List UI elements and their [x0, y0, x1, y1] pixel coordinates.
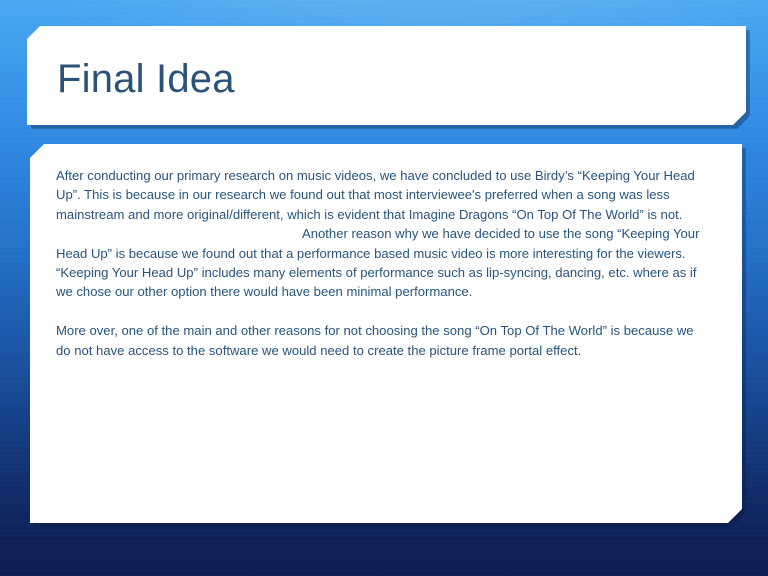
paragraph-spacer [56, 302, 706, 321]
body-paragraph-2: More over, one of the main and other rea… [56, 321, 706, 360]
body-paragraph-1-part-1: After conducting our primary research on… [56, 168, 695, 222]
body-paragraph-1: After conducting our primary research on… [56, 166, 706, 302]
body-paragraph-1-part-2: Another reason why we have decided to us… [56, 226, 699, 299]
presentation-slide: Final Idea After conducting our primary … [0, 0, 768, 576]
body-text-block: After conducting our primary research on… [56, 166, 706, 360]
title-panel: Final Idea [27, 26, 746, 125]
content-panel: After conducting our primary research on… [30, 144, 742, 523]
page-title: Final Idea [57, 55, 235, 103]
